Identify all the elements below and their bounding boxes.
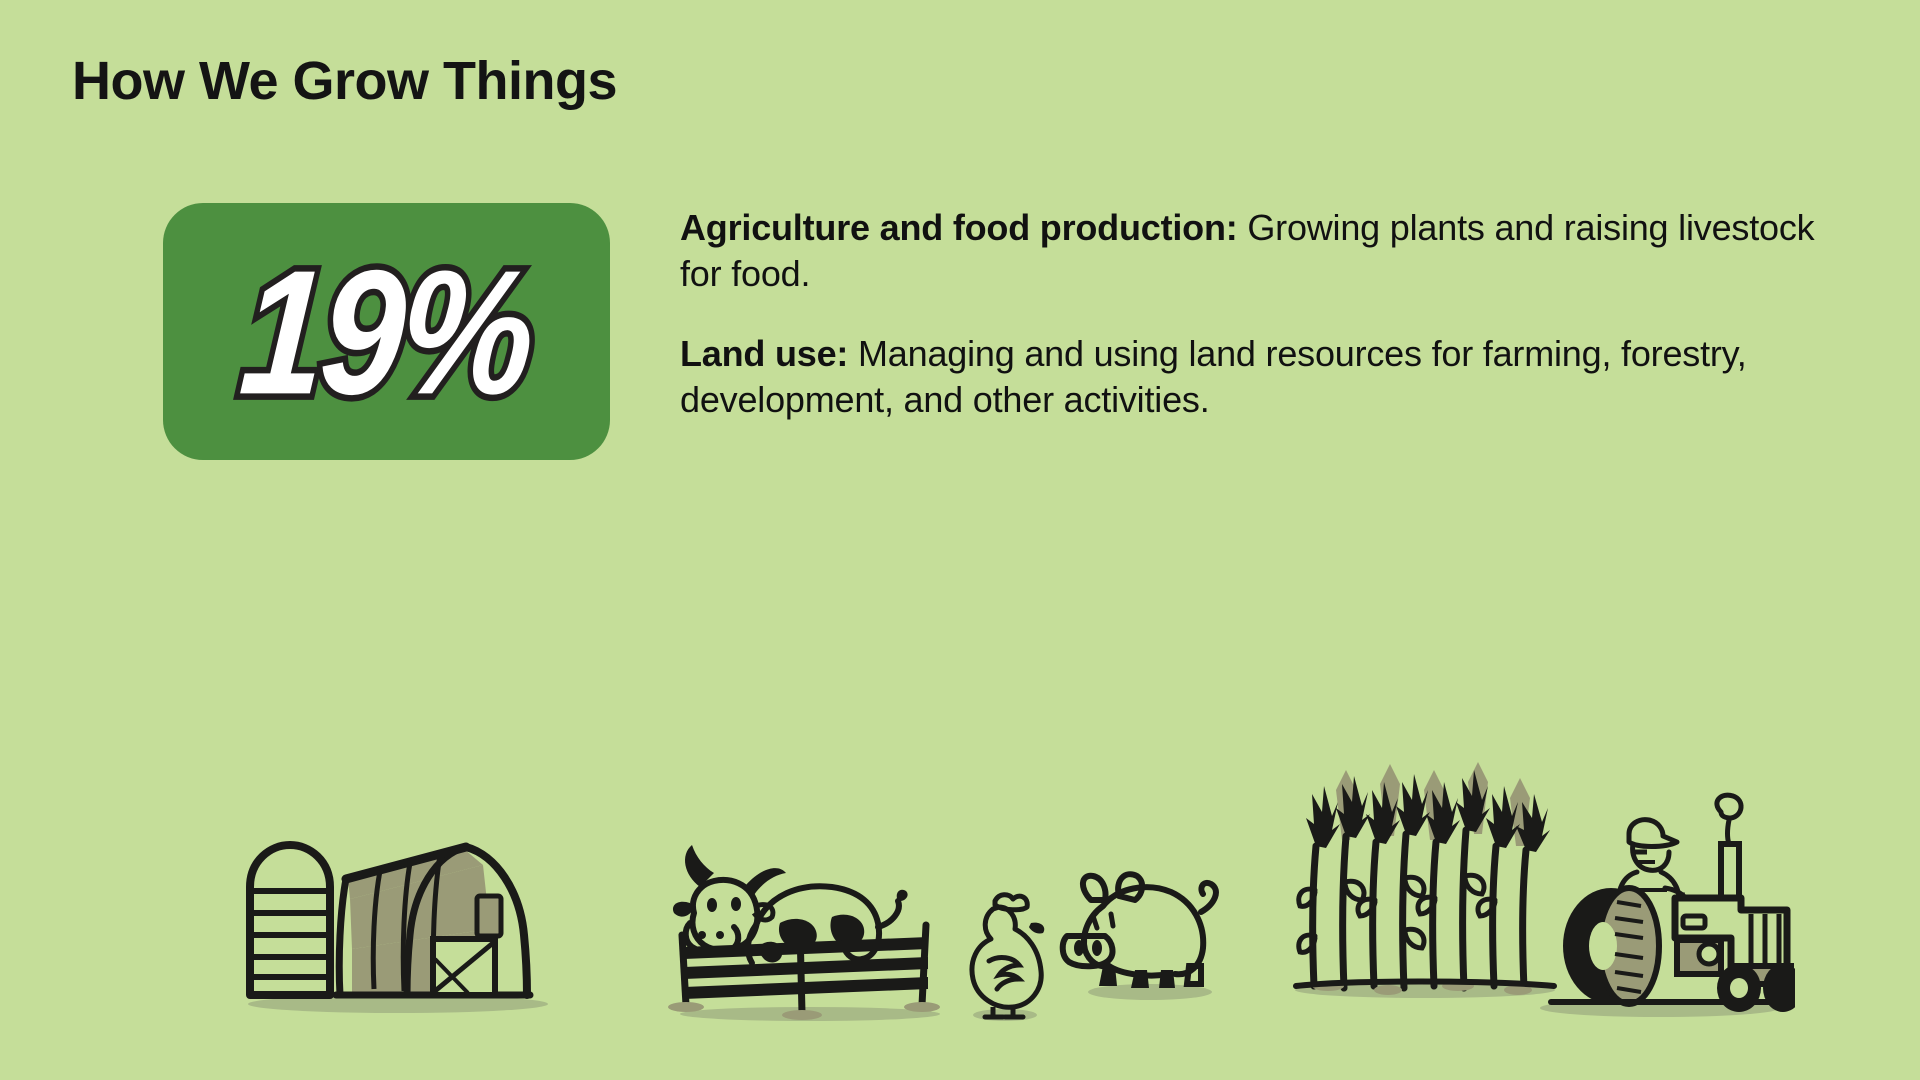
- slide-root: How We Grow Things 19% Agriculture and f…: [0, 0, 1920, 1080]
- barn-and-silo-icon: [228, 799, 568, 1014]
- pig-icon: [1055, 854, 1230, 1002]
- paragraph-agriculture: Agriculture and food production: Growing…: [680, 205, 1850, 297]
- page-title: How We Grow Things: [72, 52, 617, 111]
- crop-field-icon: [1288, 750, 1563, 1000]
- cow-in-pen-icon: [660, 807, 960, 1022]
- illustration-band: [0, 720, 1920, 1080]
- paragraph-land-use: Land use: Managing and using land resour…: [680, 331, 1850, 423]
- stat-badge-value: 19%: [236, 243, 537, 420]
- paragraph-agriculture-lead: Agriculture and food production:: [680, 207, 1238, 248]
- stat-badge: 19%: [163, 203, 610, 460]
- paragraph-land-use-lead: Land use:: [680, 333, 848, 374]
- content-copy-block: Agriculture and food production: Growing…: [680, 205, 1850, 423]
- chicken-icon: [955, 887, 1051, 1022]
- tractor-with-farmer-icon: [1525, 790, 1795, 1020]
